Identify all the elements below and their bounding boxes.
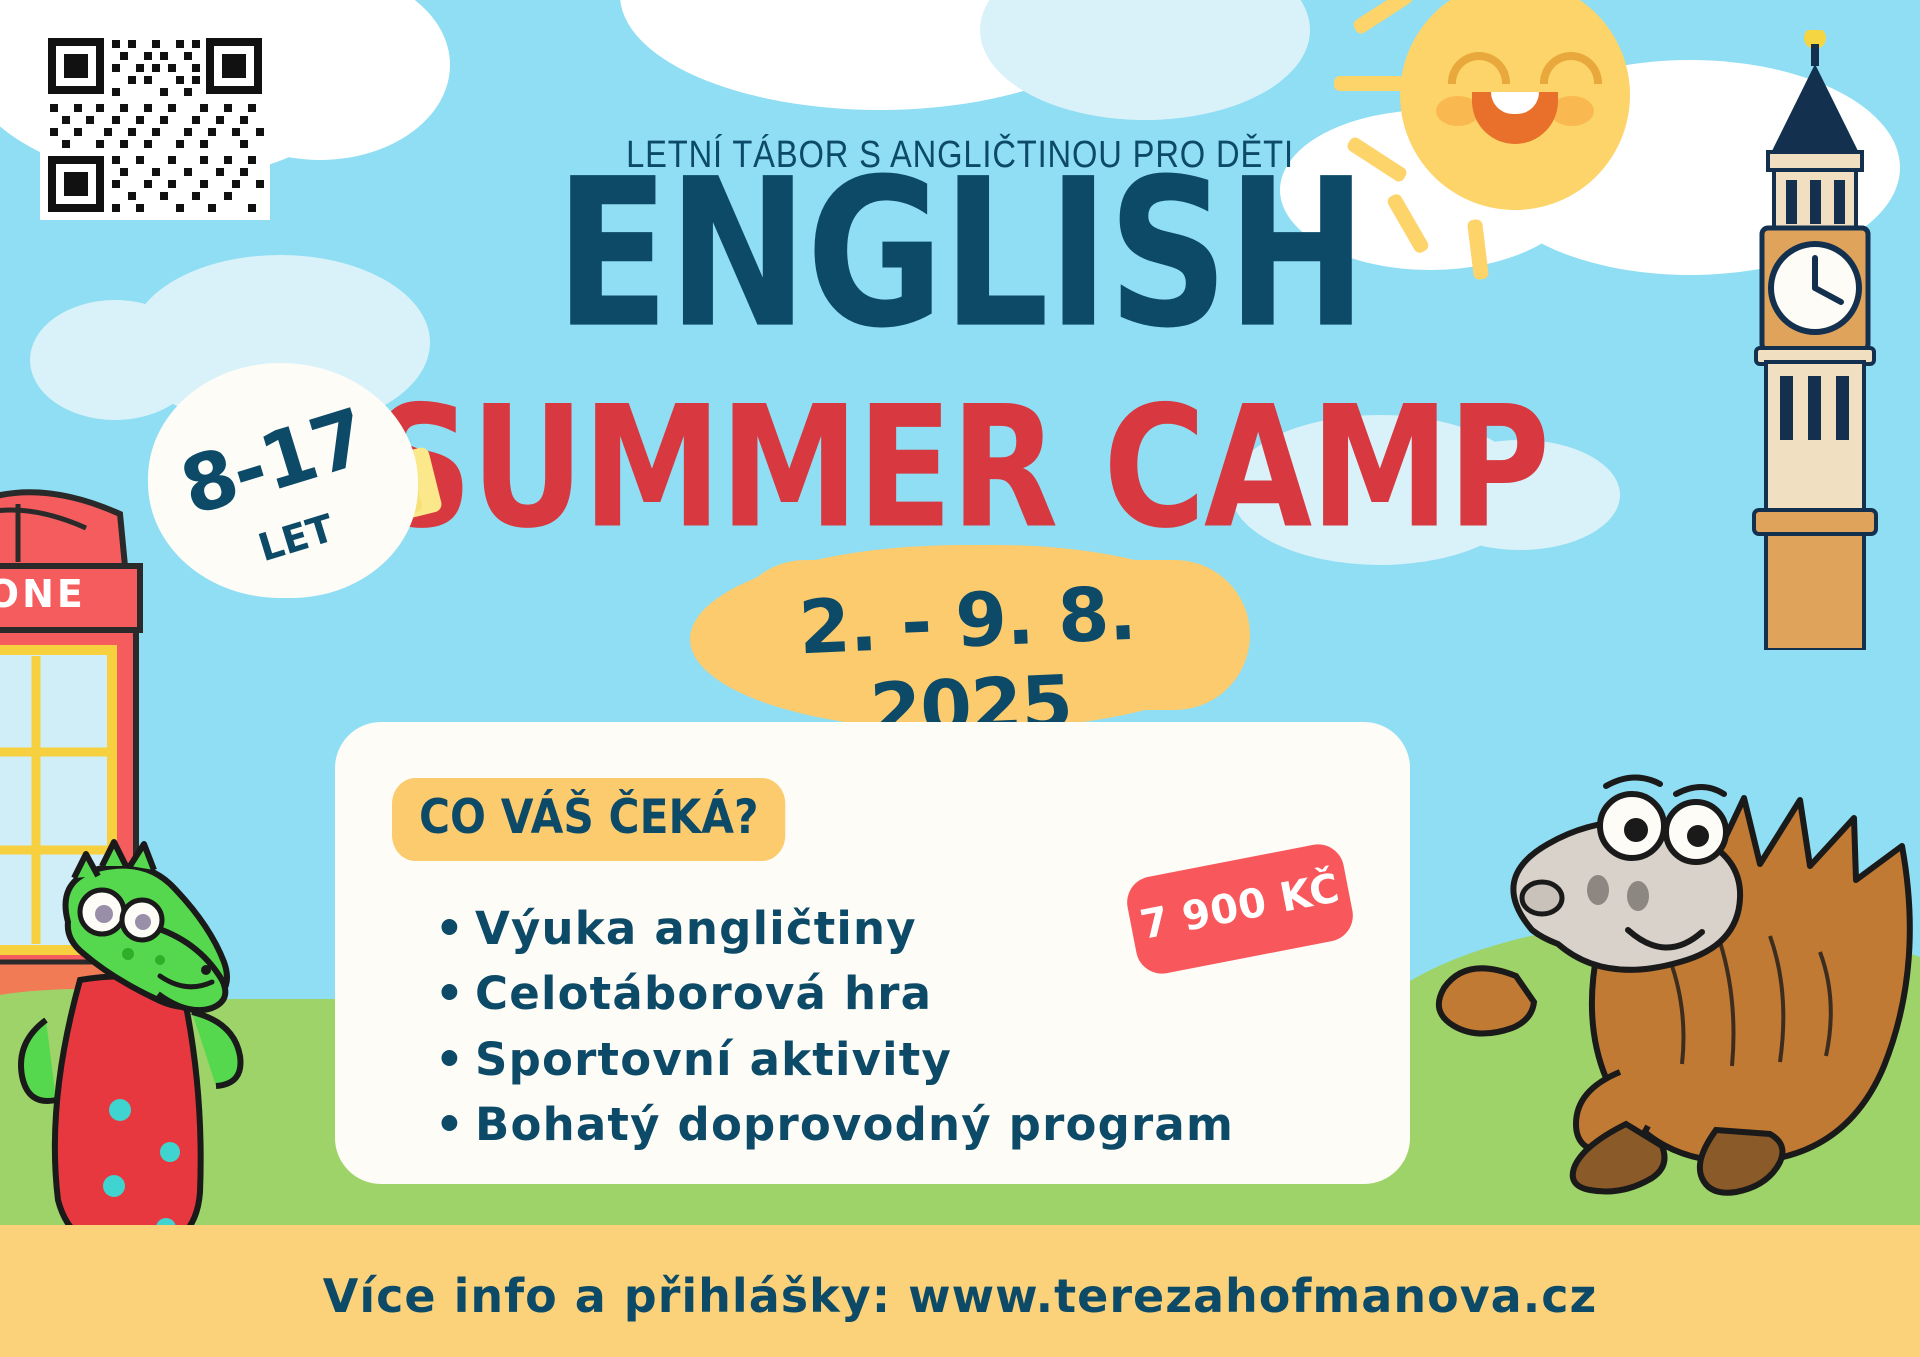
list-item: Celotáborová hra <box>435 961 1395 1026</box>
sun-eye-right <box>1540 52 1602 84</box>
sun-eye-left <box>1448 52 1510 84</box>
section-badge: CO VÁŠ ČEKÁ? <box>392 778 786 861</box>
poster-canvas: EPHONE <box>0 0 1920 1357</box>
list-item: Bohatý doprovodný program <box>435 1092 1395 1157</box>
list-item: Sportovní aktivity <box>435 1027 1395 1092</box>
footer-contact-text[interactable]: Více info a přihlášky: www.terezahofmano… <box>0 1269 1920 1323</box>
cloud-top-center-2 <box>980 0 1310 120</box>
telephone-box-label: EPHONE <box>0 572 114 616</box>
poster-title-line1: ENGLISH <box>0 157 1920 352</box>
hedgehog-mascot-icon <box>1420 680 1920 1200</box>
